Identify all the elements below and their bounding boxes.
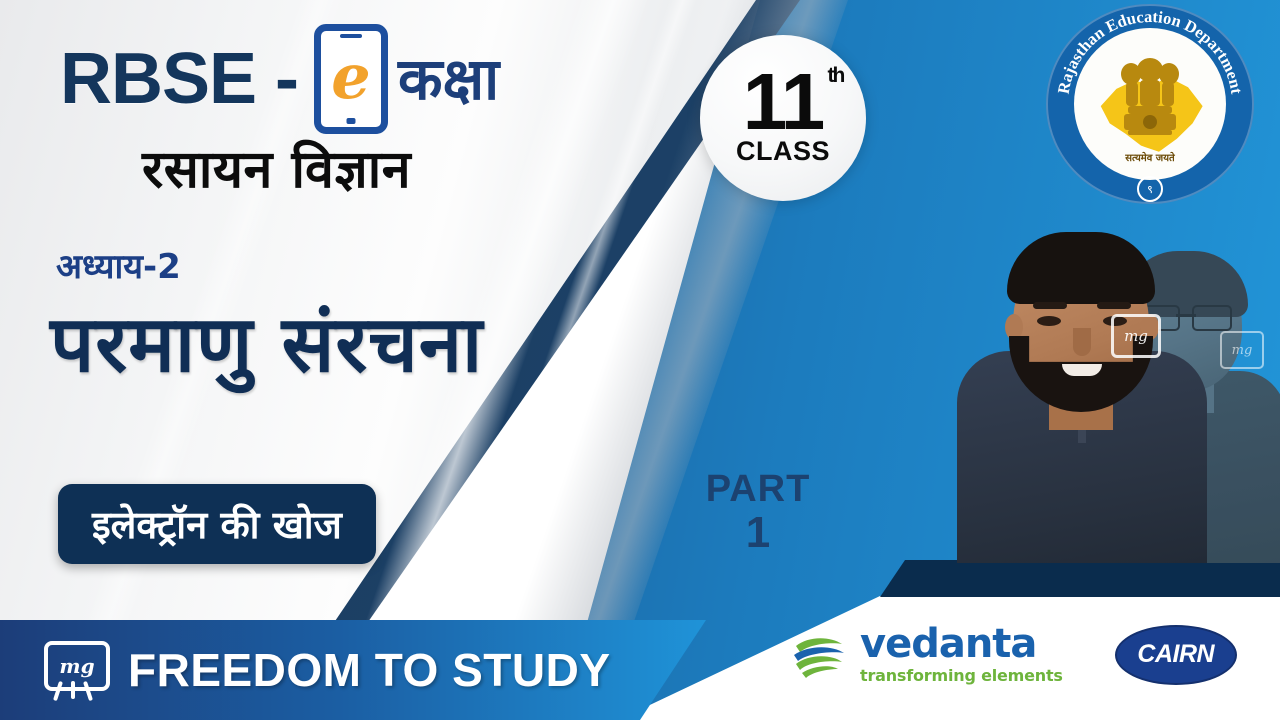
vedanta-name: vedanta bbox=[860, 624, 1063, 664]
vedanta-leaf-globe-icon bbox=[790, 626, 848, 684]
part-number: 1 bbox=[698, 510, 818, 556]
cairn-logo: CAIRN bbox=[1115, 625, 1237, 685]
seal-inner-disc: सत्यमेव जयते bbox=[1074, 28, 1226, 180]
rajasthan-education-department-seal: Rajasthan Education Department सत्य bbox=[1046, 4, 1254, 204]
brand-kaksha-word: कक्षा bbox=[398, 50, 499, 108]
topic-label: इलेक्ट्रॉन की खोज bbox=[92, 503, 342, 547]
part-indicator: PART 1 bbox=[698, 470, 818, 556]
topic-badge: इलेक्ट्रॉन की खोज bbox=[58, 484, 376, 564]
shirt-logo-front: mg bbox=[1111, 314, 1161, 358]
ashoka-lion-capital-icon bbox=[1114, 52, 1186, 148]
thumbnail-canvas: mg mg RBSE - e कक्षा रसायन विज्ञान अध्या… bbox=[0, 0, 1280, 720]
seal-footer-glyph: ९ bbox=[1137, 176, 1163, 202]
chapter-title: परमाणु संरचना bbox=[50, 288, 483, 394]
easel-board-icon: mg bbox=[40, 639, 106, 701]
sponsor-logos: vedanta transforming elements CAIRN bbox=[790, 624, 1237, 685]
brand-title: RBSE - bbox=[60, 38, 298, 120]
mg-logo-text: mg bbox=[59, 654, 94, 678]
smartphone-icon: e bbox=[314, 24, 388, 134]
class-number-value: 11 bbox=[743, 57, 824, 146]
instructor-photos: mg mg bbox=[905, 198, 1280, 563]
vedanta-logo: vedanta transforming elements bbox=[790, 624, 1063, 685]
class-badge: 11 th CLASS bbox=[700, 35, 866, 201]
class-number: 11 th bbox=[743, 69, 824, 135]
cairn-name: CAIRN bbox=[1137, 640, 1214, 669]
chapter-number: अध्याय-2 bbox=[56, 242, 181, 288]
brand-e-letter: e bbox=[331, 46, 370, 108]
shirt-logo-back: mg bbox=[1220, 331, 1264, 369]
vedanta-tagline: transforming elements bbox=[860, 666, 1063, 685]
part-label: PART bbox=[698, 470, 818, 510]
subject-title: रसायन विज्ञान bbox=[142, 132, 411, 203]
instructor-front-photo: mg bbox=[957, 218, 1207, 563]
footer-bar: mg FREEDOM TO STUDY bbox=[0, 620, 706, 720]
class-number-superscript: th bbox=[827, 67, 843, 84]
seal-motto: सत्यमेव जयते bbox=[1125, 150, 1174, 164]
footer-tagline: FREEDOM TO STUDY bbox=[128, 643, 611, 697]
brand-header: RBSE - e कक्षा bbox=[60, 24, 499, 134]
